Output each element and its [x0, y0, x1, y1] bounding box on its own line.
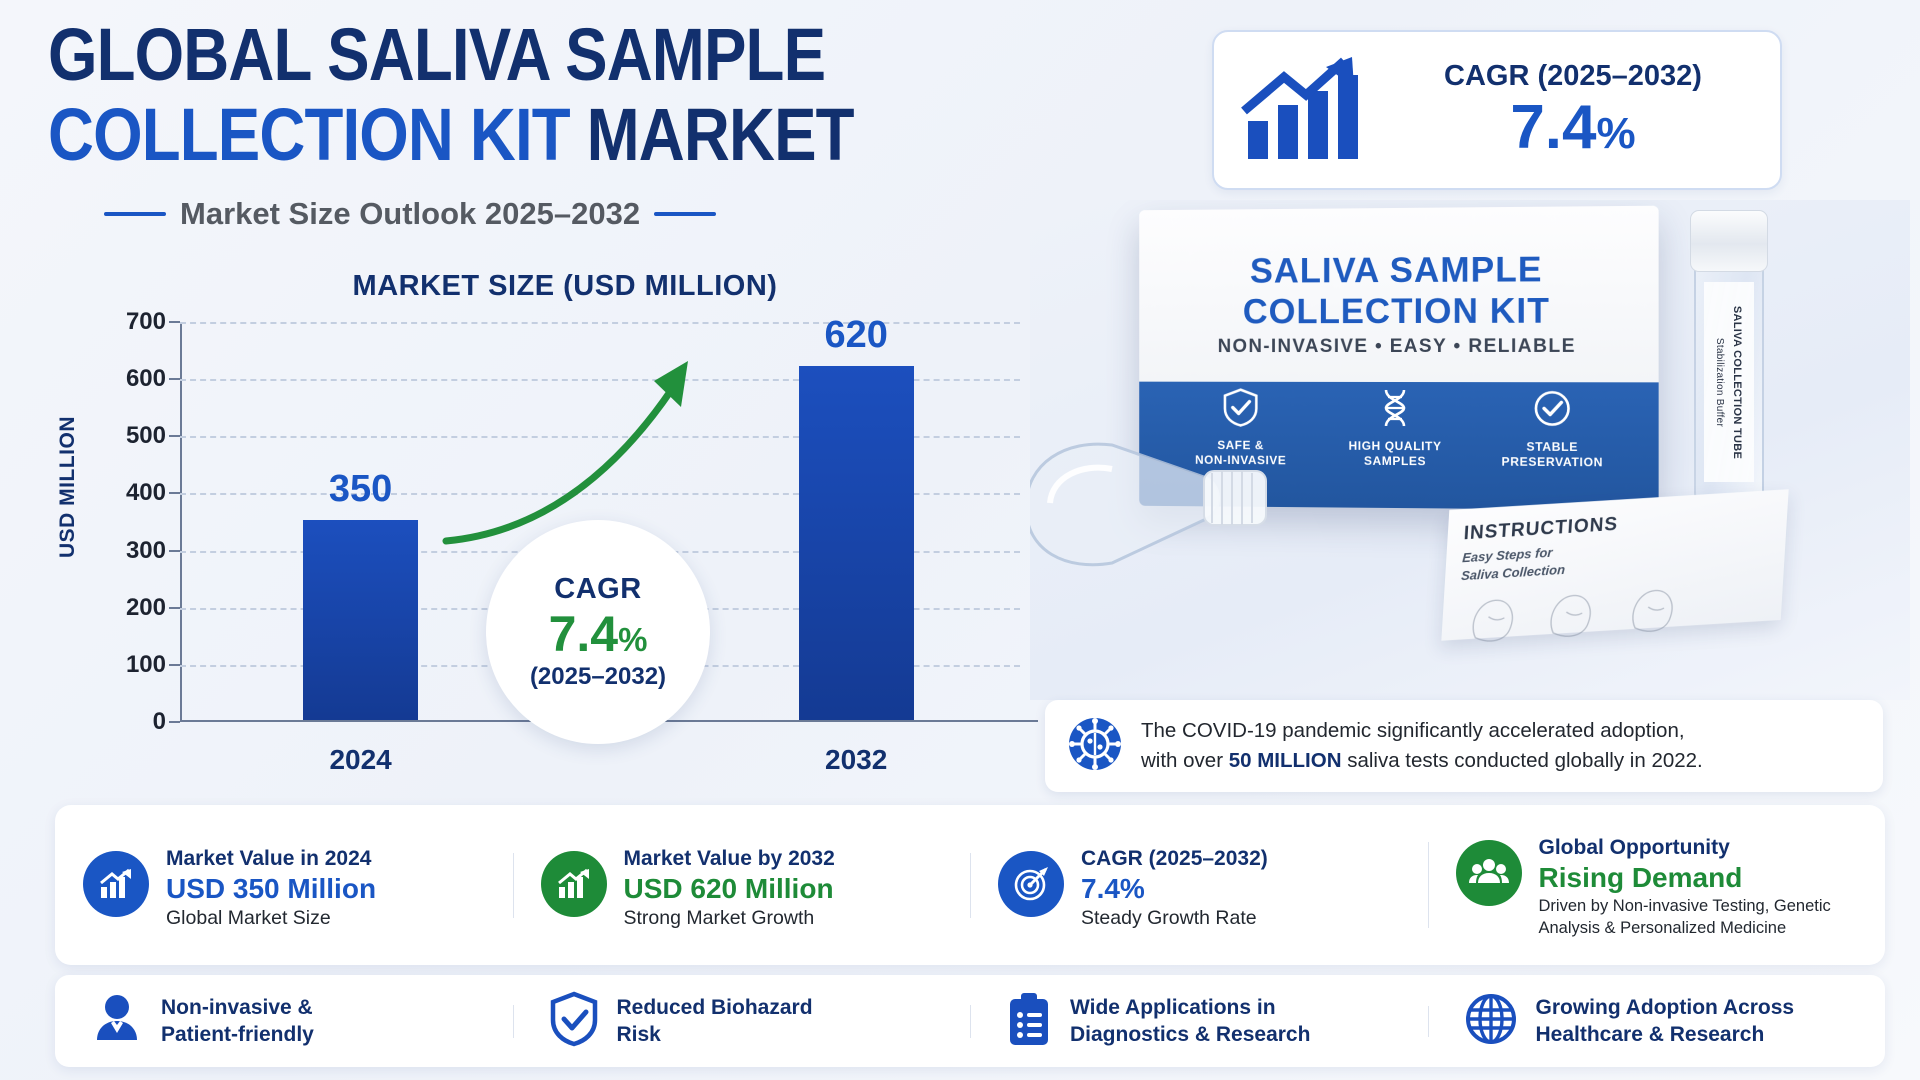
circle-check-icon: [1532, 388, 1573, 434]
box-feature: HIGH QUALITYSAMPLES: [1335, 388, 1455, 469]
benefits-row: Non-invasive &Patient-friendly Reduced B…: [55, 975, 1885, 1067]
covid-note-highlight: 50 MILLION: [1229, 749, 1342, 772]
box-title-line1: SALIVA SAMPLE: [1250, 250, 1543, 290]
benefit-label: Non-invasive &Patient-friendly: [161, 994, 314, 1049]
dna-helix-icon: [1378, 388, 1412, 433]
chart-y-tick-label: 700: [126, 308, 166, 336]
chart-y-axis: [180, 322, 182, 722]
chart-y-tick-mark: [169, 607, 180, 609]
stat-card-value: 7.4%: [1081, 873, 1268, 905]
globe-icon: [1464, 992, 1518, 1051]
chart-y-tick-mark: [169, 321, 180, 323]
vial-label-main: SALIVA COLLECTION TUBE: [1732, 305, 1744, 458]
subtitle-row: Market Size Outlook 2025–2032: [104, 196, 1068, 232]
instructions-diagram: [1457, 573, 1710, 651]
covid-note-card: The COVID-19 pandemic significantly acce…: [1045, 700, 1883, 792]
stat-card-title: Market Value by 2032: [624, 847, 835, 871]
shield-check-icon: [549, 991, 599, 1052]
box-title: SALIVA SAMPLE COLLECTION KIT: [1139, 248, 1658, 333]
cagr-badge-text: CAGR (2025–2032) 7.4%: [1392, 60, 1754, 160]
cagr-badge-label: CAGR (2025–2032): [1444, 60, 1702, 93]
cagr-badge-number: 7.4: [1510, 93, 1596, 162]
cagr-badge-value: 7.4%: [1510, 95, 1635, 160]
stat-card: Market Value by 2032 USD 620 Million Str…: [513, 841, 971, 930]
stat-card: Market Value in 2024 USD 350 Million Glo…: [55, 841, 513, 930]
cagr-badge-percent: %: [1597, 109, 1636, 158]
vial-label: SALIVA COLLECTION TUBE Stabilization Buf…: [1704, 282, 1754, 482]
chart-y-tick-mark: [169, 378, 180, 380]
chart-y-axis-label: USD MILLION: [56, 416, 80, 558]
benefit-item: Wide Applications inDiagnostics & Resear…: [970, 991, 1428, 1052]
instructions-sheet: INSTRUCTIONS Easy Steps forSaliva Collec…: [1441, 489, 1788, 640]
product-photo: SALIVA SAMPLE COLLECTION KIT NON-INVASIV…: [1030, 200, 1910, 700]
stat-card-body: Market Value in 2024 USD 350 Million Glo…: [166, 841, 376, 930]
covid-note-line2-before: with over: [1141, 749, 1229, 772]
stat-card-subtitle: Global Market Size: [166, 907, 376, 930]
stat-card-title: Global Opportunity: [1539, 836, 1866, 860]
stat-card: CAGR (2025–2032) 7.4% Steady Growth Rate: [970, 841, 1428, 930]
chart-bar: [303, 520, 418, 720]
specimen-vial: SALIVA COLLECTION TUBE Stabilization Buf…: [1690, 210, 1768, 520]
vial-label-text: SALIVA COLLECTION TUBE Stabilization Buf…: [1713, 305, 1746, 458]
stat-card-value: USD 620 Million: [624, 873, 835, 905]
chart-y-tick-label: 300: [126, 537, 166, 565]
chart-y-tick-label: 500: [126, 422, 166, 450]
vial-cap: [1690, 210, 1768, 272]
chart-y-tick-mark: [169, 492, 180, 494]
benefit-label: Reduced BiohazardRisk: [617, 994, 813, 1049]
chart-y-tick-label: 200: [126, 594, 166, 622]
cagr-callout-number: 7.4: [549, 606, 619, 662]
title-dark-text: MARKET: [587, 93, 854, 176]
stat-card-title: CAGR (2025–2032): [1081, 847, 1268, 871]
subtitle-dash-left: [104, 212, 166, 216]
covid-note-line1: The COVID-19 pandemic significantly acce…: [1141, 719, 1685, 742]
subtitle-text: Market Size Outlook 2025–2032: [180, 196, 640, 232]
box-feature-label: HIGH QUALITYSAMPLES: [1349, 439, 1442, 470]
growth-chart-icon: [1240, 55, 1370, 166]
cagr-badge: CAGR (2025–2032) 7.4%: [1212, 30, 1782, 190]
stat-card-subtitle: Steady Growth Rate: [1081, 907, 1268, 930]
cagr-callout-label: CAGR: [554, 573, 641, 606]
benefit-item: Non-invasive &Patient-friendly: [55, 992, 513, 1051]
covid-note-line2-after: saliva tests conducted globally in 2022.: [1342, 749, 1703, 772]
stat-card-value: Rising Demand: [1539, 862, 1866, 894]
stat-card-subtitle: Driven by Non-invasive Testing, Genetic …: [1539, 896, 1866, 940]
box-title-line2: COLLECTION KIT: [1243, 292, 1550, 332]
box-feature: STABLEPRESERVATION: [1491, 388, 1613, 470]
box-feature-label: STABLEPRESERVATION: [1502, 440, 1604, 471]
chart-y-tick-label: 400: [126, 479, 166, 507]
stat-card-subtitle: Strong Market Growth: [624, 907, 835, 930]
stat-card-body: Market Value by 2032 USD 620 Million Str…: [624, 841, 835, 930]
chart-x-tick-label: 2024: [329, 744, 391, 776]
person-icon: [91, 992, 143, 1051]
stat-card-body: Global Opportunity Rising Demand Driven …: [1539, 830, 1866, 940]
chart-x-tick-label: 2032: [825, 744, 887, 776]
chart-y-tick-mark: [169, 721, 180, 723]
clipboard-list-icon: [1006, 991, 1052, 1052]
cagr-callout-value: 7.4%: [549, 607, 648, 662]
stat-cards-row: Market Value in 2024 USD 350 Million Glo…: [55, 805, 1885, 965]
cagr-callout-percent: %: [618, 621, 647, 658]
chart-y-tick-mark: [169, 435, 180, 437]
stat-card-title: Market Value in 2024: [166, 847, 376, 871]
benefit-item: Growing Adoption AcrossHealthcare & Rese…: [1428, 992, 1886, 1051]
bar-chart-growth-icon: [83, 851, 149, 917]
subtitle-dash-right: [654, 212, 716, 216]
box-tagline: NON-INVASIVE • EASY • RELIABLE: [1139, 336, 1658, 358]
title-line-2: COLLECTION KIT MARKET: [48, 96, 925, 174]
bar-chart-growth-icon: [541, 851, 607, 917]
chart-bar-value-label: 350: [329, 468, 392, 511]
chart-y-tick-mark: [169, 664, 180, 666]
chart-bar-value-label: 620: [824, 314, 887, 357]
benefit-label: Wide Applications inDiagnostics & Resear…: [1070, 994, 1310, 1049]
stat-card-body: CAGR (2025–2032) 7.4% Steady Growth Rate: [1081, 841, 1268, 930]
virus-icon: [1067, 716, 1123, 777]
chart-y-tick-mark: [169, 550, 180, 552]
chart-y-tick-label: 600: [126, 365, 166, 393]
saliva-funnel-icon: [1030, 415, 1338, 600]
target-arrow-icon: [998, 851, 1064, 917]
cagr-callout-circle: CAGR 7.4% (2025–2032): [486, 520, 710, 744]
vial-label-sub: Stabilization Buffer: [1715, 337, 1726, 426]
chart-bar: [799, 366, 914, 720]
stat-card: Global Opportunity Rising Demand Driven …: [1428, 830, 1886, 940]
chart-gridline: [180, 322, 1020, 324]
infographic-root: GLOBAL SALIVA SAMPLE COLLECTION KIT MARK…: [0, 0, 1920, 1080]
covid-note-text: The COVID-19 pandemic significantly acce…: [1141, 716, 1703, 777]
title-line-1: GLOBAL SALIVA SAMPLE: [48, 18, 925, 92]
benefit-item: Reduced BiohazardRisk: [513, 991, 971, 1052]
cagr-callout-range: (2025–2032): [530, 663, 666, 691]
chart-y-tick-label: 100: [126, 651, 166, 679]
people-group-icon: [1456, 840, 1522, 906]
chart-y-tick-label: 0: [153, 708, 166, 736]
chart-title: MARKET SIZE (USD MILLION): [90, 270, 1040, 303]
benefit-label: Growing Adoption AcrossHealthcare & Rese…: [1536, 994, 1795, 1049]
page-title: GLOBAL SALIVA SAMPLE COLLECTION KIT MARK…: [48, 18, 1068, 232]
title-accent-text: COLLECTION KIT: [48, 93, 570, 176]
stat-card-value: USD 350 Million: [166, 873, 376, 905]
